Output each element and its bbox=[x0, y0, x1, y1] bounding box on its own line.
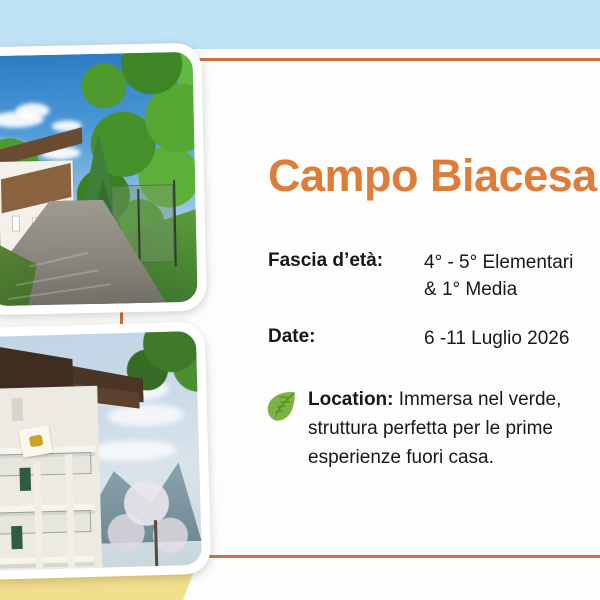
photo-card-alpine-building[interactable] bbox=[0, 322, 211, 581]
info-label-date: Date: bbox=[268, 326, 424, 348]
location-label: Location: bbox=[308, 389, 394, 410]
frame-top-mask bbox=[0, 0, 600, 49]
info-value-date: 6 -11 Luglio 2026 bbox=[424, 326, 569, 353]
info-value-fascia-eta-line2: & 1° Media bbox=[424, 277, 573, 304]
location-line-3: esperienze fuori casa. bbox=[308, 444, 561, 473]
location-text: Location: Immersa nel verde, struttura p… bbox=[308, 386, 561, 473]
photo-image-alpine-building bbox=[0, 331, 202, 571]
photo-card-path-trees[interactable] bbox=[0, 43, 207, 316]
building-flag-icon bbox=[19, 425, 53, 458]
info-label-fascia-eta: Fascia d’età: bbox=[268, 250, 424, 272]
poster-canvas: Campo Biacesa Fascia d’età: 4° - 5° Elem… bbox=[0, 0, 600, 600]
location-line-2: struttura perfetta per le prime bbox=[308, 415, 561, 444]
info-block: Fascia d’età: 4° - 5° Elementari & 1° Me… bbox=[268, 250, 600, 355]
leaf-icon bbox=[264, 389, 298, 423]
info-row-fascia-eta: Fascia d’età: 4° - 5° Elementari & 1° Me… bbox=[268, 250, 600, 304]
photo-image-path-trees bbox=[0, 52, 198, 306]
location-block: Location: Immersa nel verde, struttura p… bbox=[264, 386, 600, 473]
location-line-1-text: Immersa nel verde, bbox=[394, 389, 562, 410]
info-value-fascia-eta-line1: 4° - 5° Elementari bbox=[424, 252, 573, 273]
info-row-date: Date: 6 -11 Luglio 2026 bbox=[268, 326, 600, 353]
location-line-1: Location: Immersa nel verde, bbox=[308, 386, 561, 415]
info-value-fascia-eta: 4° - 5° Elementari & 1° Media bbox=[424, 250, 573, 304]
page-title: Campo Biacesa bbox=[268, 152, 597, 201]
